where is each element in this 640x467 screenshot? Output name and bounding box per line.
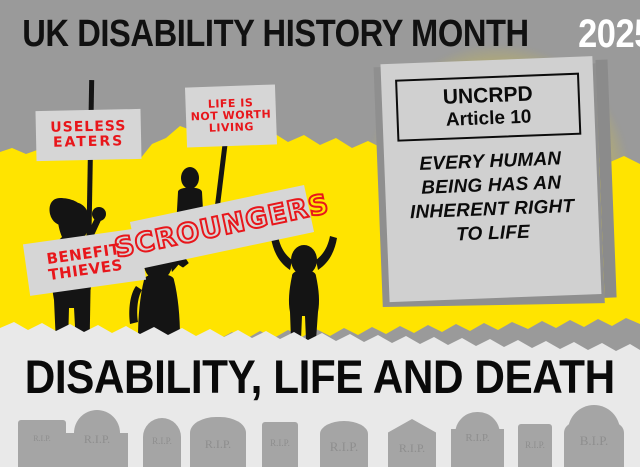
gravestone: R.I.P. <box>455 412 500 467</box>
board-face: UNCRPD Article 10 EVERY HUMAN BEING HAS … <box>380 56 601 302</box>
gravestone-label: R.I.P. <box>518 440 552 450</box>
gravestone: R.I.P. <box>74 410 120 467</box>
gravestone-label: R.I.P. <box>18 434 66 443</box>
poster-headline: DISABILITY, LIFE AND DEATH <box>0 352 640 400</box>
gravestone: R.I.P. <box>262 422 298 467</box>
uncrpd-board[interactable]: UNCRPD Article 10 EVERY HUMAN BEING HAS … <box>380 56 607 304</box>
headline-text: DISABILITY, LIFE AND DEATH <box>25 349 615 404</box>
gravestone-label: R.I.P. <box>388 441 436 456</box>
gravestone: B.I.P. <box>568 405 620 467</box>
board-heading-box: UNCRPD Article 10 <box>395 73 581 142</box>
gravestone-row: R.I.P. R.I.P. R.I.P. R.I.P. R.I.P. R.I.P… <box>0 398 640 467</box>
gravestone: R.I.P. <box>388 419 436 467</box>
gravestone: R.I.P. <box>320 421 368 467</box>
gravestone: R.I.P. <box>143 418 181 467</box>
protest-sign-useless-eaters[interactable]: USELESS EATERS <box>35 109 141 161</box>
gravestone-label: R.I.P. <box>74 432 120 447</box>
gravestone-label: R.I.P. <box>262 438 298 448</box>
sign-line: EATERS <box>53 134 125 151</box>
gravestone-label: R.I.P. <box>455 432 500 444</box>
gravestone-label: R.I.P. <box>190 437 246 452</box>
gravestone: R.I.P. <box>18 420 66 467</box>
gravestone: R.I.P. <box>190 417 246 467</box>
gravestone-label: B.I.P. <box>568 433 620 449</box>
board-body-text: EVERY HUMAN BEING HAS AN INHERENT RIGHT … <box>394 147 590 250</box>
gravestone: R.I.P. <box>518 424 552 467</box>
protest-sign-life-is-not-worth-living[interactable]: LIFE IS NOT WORTH LIVING <box>185 84 277 147</box>
gravestone-label: R.I.P. <box>320 439 368 455</box>
sign-line: LIVING <box>209 121 254 134</box>
poster-canvas: UK DISABILITY HISTORY MONTH 2025 <box>0 0 640 467</box>
gravestone-label: R.I.P. <box>143 436 181 446</box>
